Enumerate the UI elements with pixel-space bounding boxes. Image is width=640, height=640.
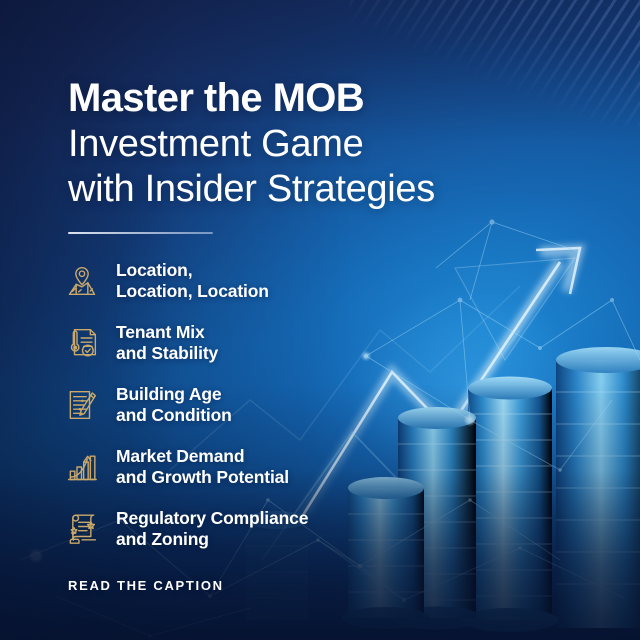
list-item: Building Age and Condition (60, 374, 420, 436)
list-item-label: Building Age and Condition (116, 384, 232, 425)
read-the-caption-cta[interactable]: READ THE CAPTION (68, 578, 224, 593)
headline-line-3: with Insider Strategies (68, 170, 568, 209)
title-divider (68, 232, 213, 234)
list-item-label: Tenant Mix and Stability (116, 322, 218, 363)
map-location-pin-icon (60, 259, 104, 303)
benefits-list: Location, Location, Location (60, 250, 420, 560)
list-item: Location, Location, Location (60, 250, 420, 312)
document-pencil-icon (60, 383, 104, 427)
list-item: Tenant Mix and Stability (60, 312, 420, 374)
headline-line-2: Investment Game (68, 125, 568, 164)
list-item: Market Demand and Growth Potential (60, 436, 420, 498)
document-thermometer-check-icon (60, 321, 104, 365)
bar-chart-growth-arrow-icon (60, 445, 104, 489)
poster-content: Master the MOB Investment Game with Insi… (0, 0, 640, 640)
scroll-stamp-stars-icon (60, 507, 104, 551)
list-item-label: Location, Location, Location (116, 260, 269, 301)
poster-canvas: Master the MOB Investment Game with Insi… (0, 0, 640, 640)
list-item: Regulatory Compliance and Zoning (60, 498, 420, 560)
headline-line-1: Master the MOB (68, 78, 568, 119)
list-item-label: Market Demand and Growth Potential (116, 446, 289, 487)
page-title: Master the MOB Investment Game with Insi… (68, 78, 568, 208)
list-item-label: Regulatory Compliance and Zoning (116, 508, 308, 549)
